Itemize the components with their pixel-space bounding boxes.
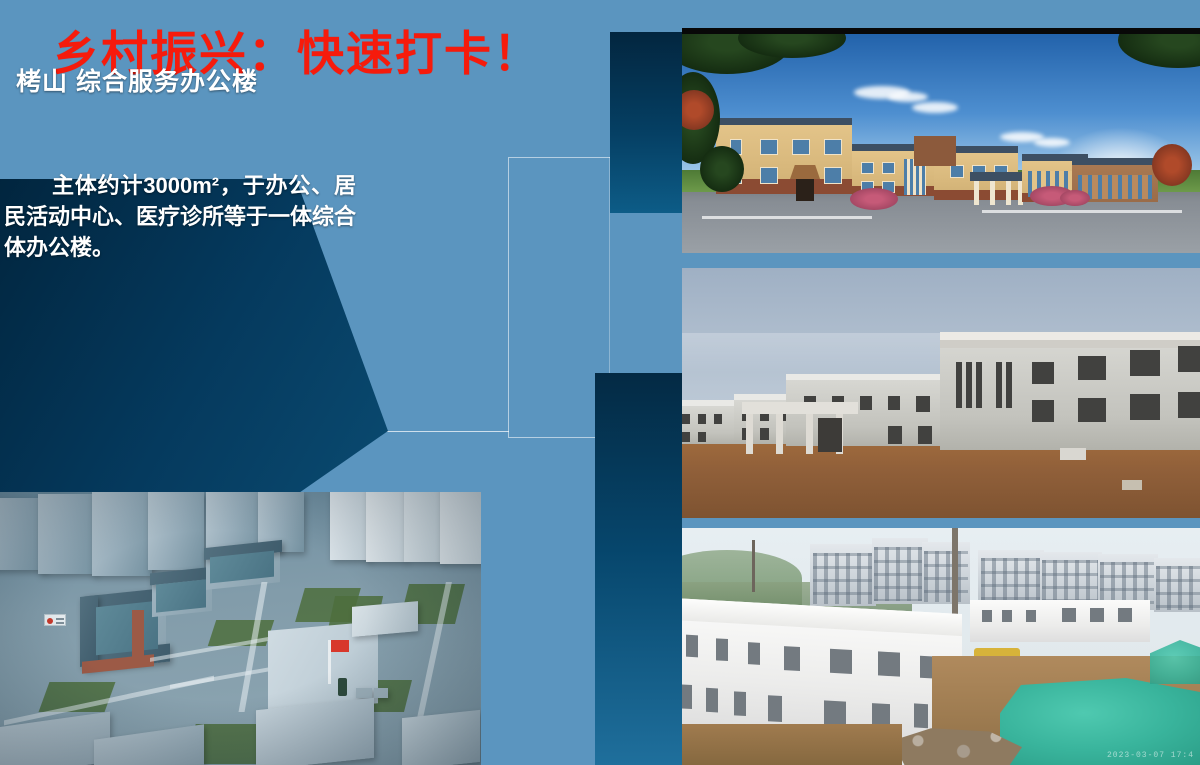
portico-column: [776, 414, 783, 454]
window: [714, 414, 722, 424]
window: [734, 691, 746, 716]
window: [824, 139, 842, 155]
window: [1130, 350, 1160, 376]
road-marking: [982, 210, 1182, 213]
window-tall: [956, 362, 962, 408]
window: [748, 642, 760, 665]
window: [860, 396, 872, 410]
residential-block: [872, 538, 928, 604]
tree-autumn: [1152, 144, 1192, 186]
window-tall: [996, 362, 1002, 408]
residential-block: [1154, 558, 1200, 612]
window: [1178, 346, 1200, 372]
portico-column: [806, 414, 813, 454]
window: [698, 432, 706, 442]
window: [916, 396, 930, 412]
building-stair-tower: [914, 136, 956, 166]
portico-column: [974, 181, 979, 205]
window-tall: [1006, 362, 1012, 408]
render-vignette: [0, 492, 481, 765]
photo-letterbox-band: [682, 28, 1200, 34]
accent-bar-top: [610, 32, 682, 213]
portico-roof: [970, 172, 1026, 181]
window: [1118, 608, 1132, 622]
info-panel-heading: 栲山 综合服务办公楼: [16, 62, 258, 98]
window: [1032, 362, 1054, 384]
tower-mast: [752, 540, 755, 592]
window: [760, 428, 769, 440]
building-midrow: [970, 600, 1150, 642]
window: [1062, 608, 1076, 622]
window: [1026, 610, 1036, 622]
window: [878, 651, 900, 676]
building-right: [940, 332, 1200, 450]
window: [982, 610, 992, 622]
window: [682, 684, 692, 709]
window: [682, 432, 690, 442]
window: [768, 695, 782, 722]
window: [861, 162, 874, 174]
portico-column: [1006, 181, 1011, 205]
debris-block: [1122, 480, 1142, 490]
window: [1078, 356, 1106, 380]
window-tall: [976, 362, 982, 408]
window: [1002, 610, 1012, 622]
portico-column: [746, 414, 753, 454]
window: [914, 703, 928, 728]
residential-block: [810, 544, 876, 606]
flowering-shrub: [1060, 190, 1090, 206]
window: [1078, 398, 1106, 422]
window: [882, 162, 895, 174]
window: [824, 167, 842, 184]
decorative-connector-line: [383, 431, 509, 432]
cloud: [888, 92, 928, 102]
portico-column: [990, 181, 995, 205]
window: [716, 638, 728, 661]
window: [1130, 394, 1160, 420]
window: [830, 649, 852, 674]
debris-block: [1060, 448, 1086, 460]
shrub: [700, 146, 744, 192]
roof-edge: [940, 340, 1200, 348]
window: [888, 396, 900, 410]
road-marking: [702, 216, 872, 219]
photo-aerial-construction: 2023-03-07 17:4: [682, 528, 1200, 765]
window: [918, 426, 932, 444]
photo-architectural-rendering: [682, 28, 1200, 253]
flowering-shrub: [850, 188, 898, 210]
dirt-ground-left: [682, 724, 902, 765]
window: [760, 139, 778, 155]
building-far-left: [682, 400, 742, 444]
portico-roof: [742, 402, 858, 414]
window: [706, 688, 718, 713]
photo-construction-front: [682, 268, 1200, 518]
accent-bar-lower: [595, 373, 682, 765]
window: [1090, 608, 1104, 622]
slide-canvas: 乡村振兴：快速打卡！ 栲山 综合服务办公楼 主体约计3000m²，于办公、居民活…: [0, 0, 1200, 765]
window: [888, 426, 902, 444]
window: [760, 167, 778, 184]
window: [792, 139, 810, 155]
window: [784, 646, 800, 671]
timestamp-watermark: 2023-03-07 17:4: [1107, 751, 1194, 760]
window: [682, 414, 690, 424]
entrance-door: [796, 179, 814, 201]
window-tall: [966, 362, 972, 408]
entrance-canopy: [790, 165, 820, 179]
cloud: [1034, 138, 1070, 147]
info-panel-body: 主体约计3000m²，于办公、居民活动中心、医疗诊所等于一体综合体办公楼。: [4, 170, 356, 264]
window: [950, 165, 964, 178]
window: [686, 635, 698, 658]
window: [1178, 392, 1200, 418]
entrance-opening: [818, 418, 842, 452]
window: [698, 414, 706, 424]
cloud: [912, 102, 958, 113]
window: [1032, 400, 1054, 422]
residential-block: [922, 542, 970, 604]
photo-masterplan-3d: [0, 492, 481, 765]
